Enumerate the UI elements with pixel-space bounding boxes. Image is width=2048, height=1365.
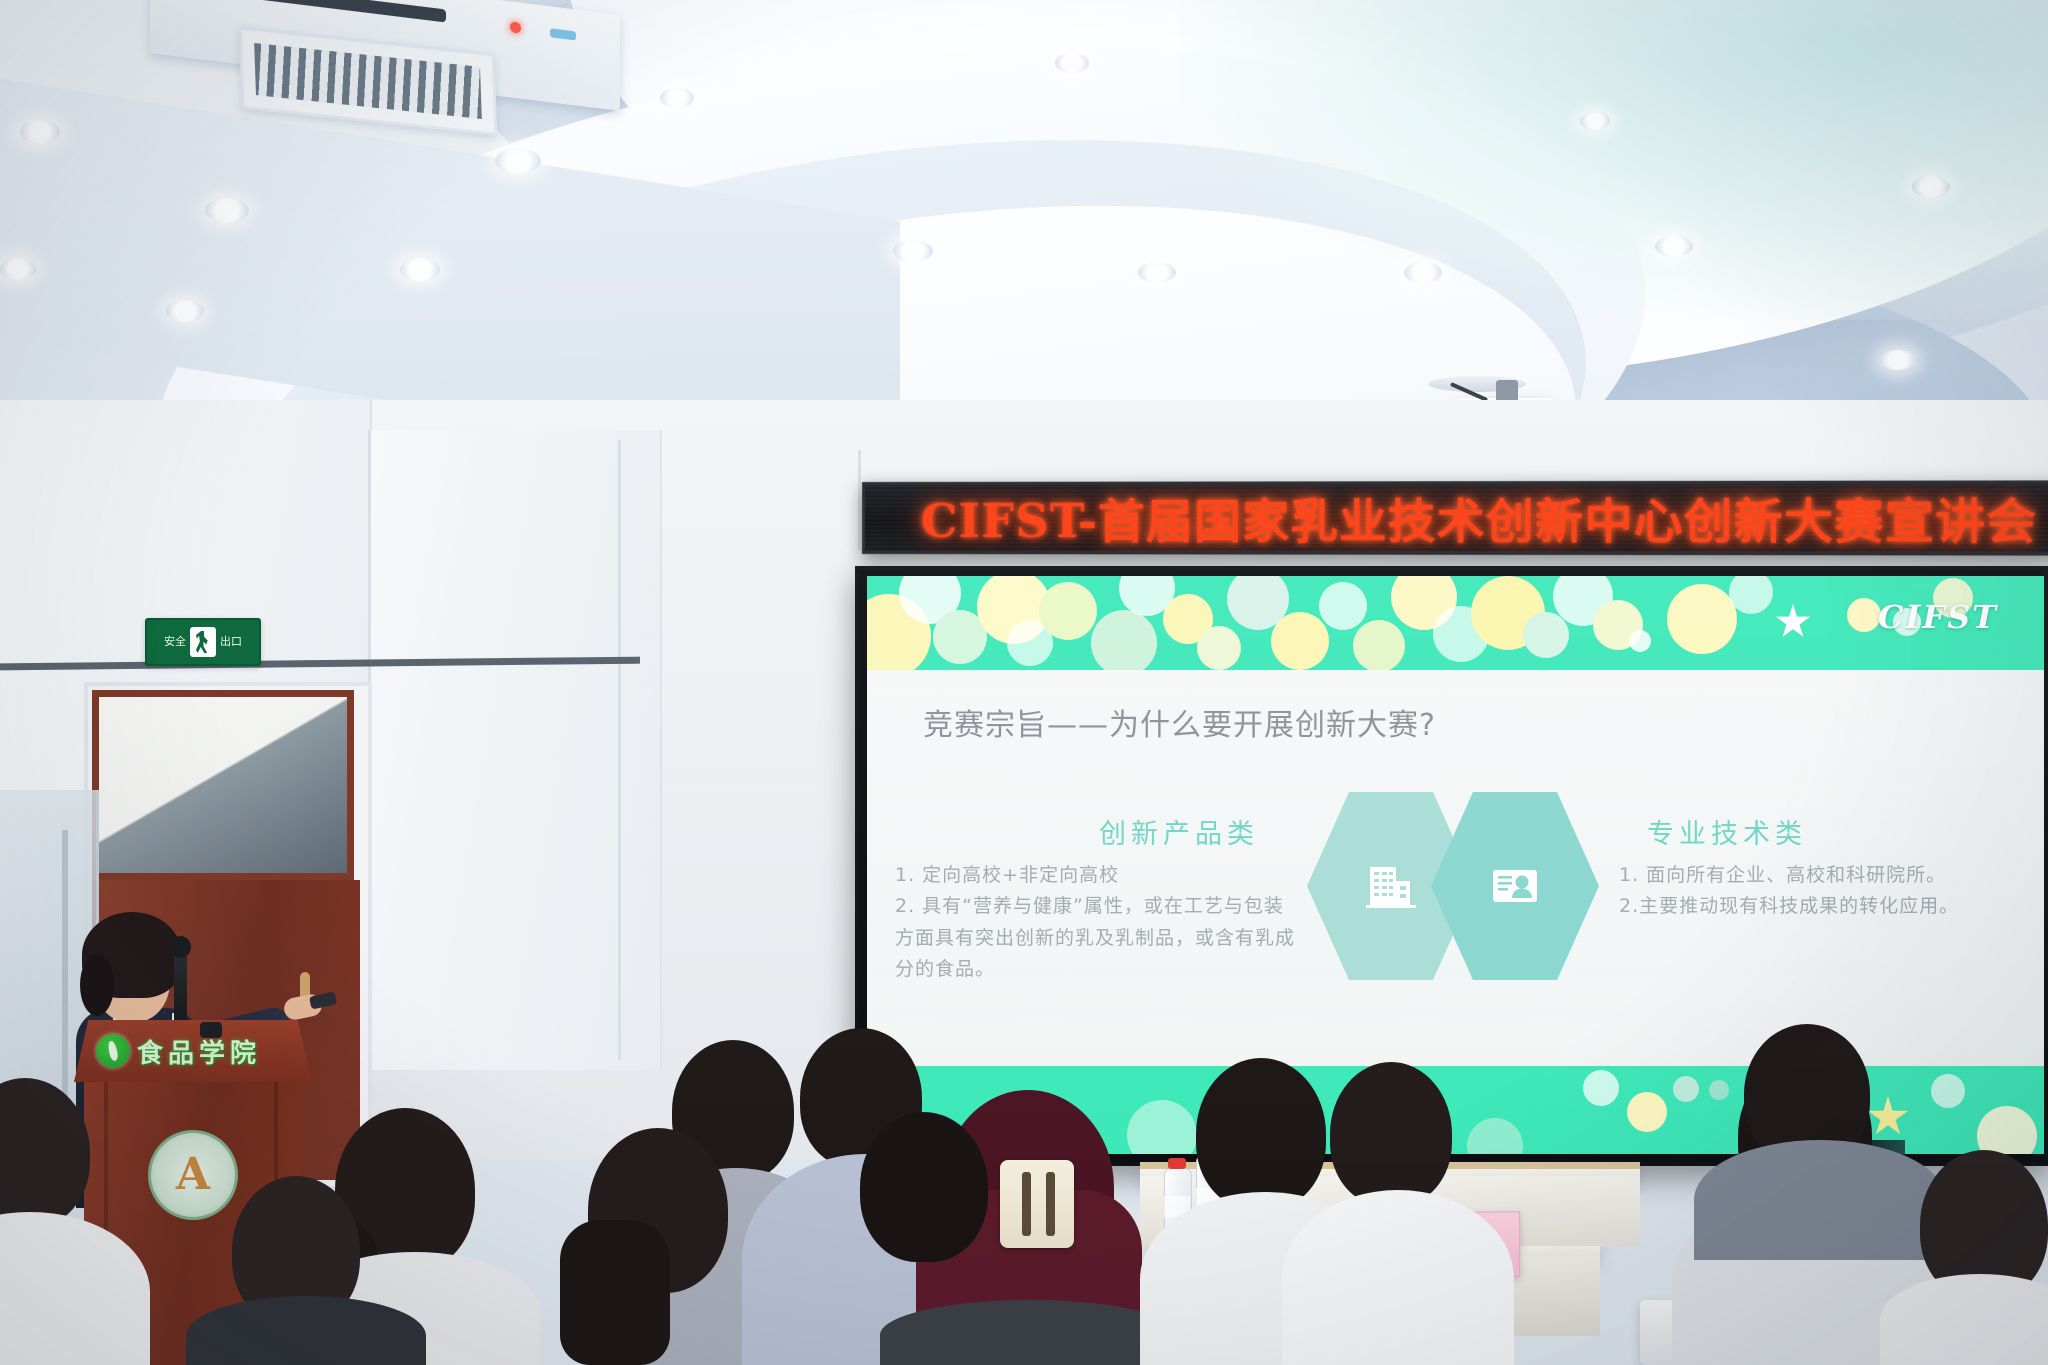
vent-louvers [254,43,482,119]
decor-bubble [1091,610,1157,670]
led-banner: CIFST-首届国家乳业技术创新中心创新大赛宣讲会 [862,480,2048,555]
podium-sign-text: 食品学院 [137,1033,261,1070]
photo-scene: 安全 出口 CIFST-首届国家乳业技术创新中心创新大赛宣讲会 [0,0,2048,1365]
decor-bubble [1667,584,1737,654]
audience-long-hair [560,1220,670,1365]
led-banner-text: CIFST-首届国家乳业技术创新中心创新大赛宣讲会 [921,484,2038,553]
projection-screen: CIFST 竞赛宗旨——为什么要开展创新大赛? 创新产品类 1. 定向高校+非定… [855,566,2048,1166]
downlight [660,88,694,108]
projector-bracket [1496,380,1518,402]
hair-clip-slot [1022,1172,1031,1236]
audience-head [1330,1062,1452,1206]
podium-sign: 食品学院 [96,1030,296,1072]
slide-column-heading-left: 创新产品类 [1099,812,1259,851]
emergency-exit-sign: 安全 出口 [145,618,261,666]
decor-bubble [1629,630,1651,652]
university-seal: A [148,1130,238,1220]
decor-bubble [1039,582,1097,640]
running-man-exit-icon [190,627,216,657]
decor-bubble [1319,582,1367,630]
slide-top-decor-band: CIFST [867,576,2044,670]
decor-bubble [1467,1118,1523,1154]
ac-power-led-icon [510,21,521,33]
decor-bubble [1627,1092,1667,1132]
decor-bubble [1931,1074,1965,1108]
hexagon-right [1431,792,1599,980]
hair-clip-slot [1046,1172,1055,1236]
downlight [495,148,541,174]
building-icon [1364,863,1418,909]
audience-shoulders [1694,1140,1946,1260]
door-transom-glass [92,690,354,880]
seal-letter: A [176,1153,210,1197]
decor-bubble [1729,576,1773,614]
cifst-logo: CIFST [1878,598,1998,636]
audience-shoulders [1282,1190,1514,1365]
decor-bubble [1583,1070,1619,1106]
ceiling-light-glow [1180,0,2048,320]
downlight [400,258,440,281]
decor-bubble [1847,598,1881,632]
downlight [205,198,249,223]
downlight [166,300,204,322]
audience-head [1196,1058,1326,1210]
presentation-slide: CIFST 竞赛宗旨——为什么要开展创新大赛? 创新产品类 1. 定向高校+非定… [867,576,2044,1154]
downlight [1580,112,1610,130]
decor-star-icon [1867,1096,1909,1138]
wall-seam [858,450,861,550]
presenter-hair-tie [80,954,114,1016]
hexagon-icon-group [1307,792,1607,982]
decor-bubble [1271,612,1329,670]
decor-bubble [1197,626,1241,670]
downlight [1404,262,1442,283]
decor-star-icon [1775,604,1811,640]
slide-column-body-right: 1. 面向所有企业、高校和科研院所。 2.主要推动现有科技成果的转化应用。 [1619,860,2039,923]
leaf-logo-icon [96,1034,130,1068]
downlight [1880,350,1916,370]
exit-sign-label-right: 出口 [220,637,242,648]
downlight [893,240,933,262]
slide-column-body-left: 1. 定向高校+非定向高校 2. 具有“营养与健康”属性，或在工艺与包装方面具有… [895,860,1295,985]
audience-head [860,1112,988,1262]
wall-seam [618,440,621,1060]
hair-clip [1000,1160,1074,1248]
decor-bubble [1673,1076,1699,1102]
bottle-cap [1168,1158,1186,1169]
downlight [0,258,36,280]
decor-bubble [1353,620,1405,670]
decor-bubble [1709,1080,1729,1100]
podium-device [200,1022,222,1038]
ac-status-led-icon [550,28,576,40]
audience-shoulders [880,1300,1180,1365]
decor-bubble [1977,1106,2037,1154]
downlight [20,120,60,144]
downlight [1655,236,1693,257]
exit-sign-label-left: 安全 [164,637,186,648]
slide-column-heading-right: 专业技术类 [1647,812,1807,851]
downlight [1055,53,1089,73]
decor-bubble [1127,1100,1197,1154]
ac-vent-slot [176,0,446,22]
id-card-person-icon [1488,863,1542,909]
downlight [1912,176,1950,198]
downlight [1138,262,1176,283]
slide-title: 竞赛宗旨——为什么要开展创新大赛? [923,700,1436,744]
decor-bubble [1523,612,1569,658]
